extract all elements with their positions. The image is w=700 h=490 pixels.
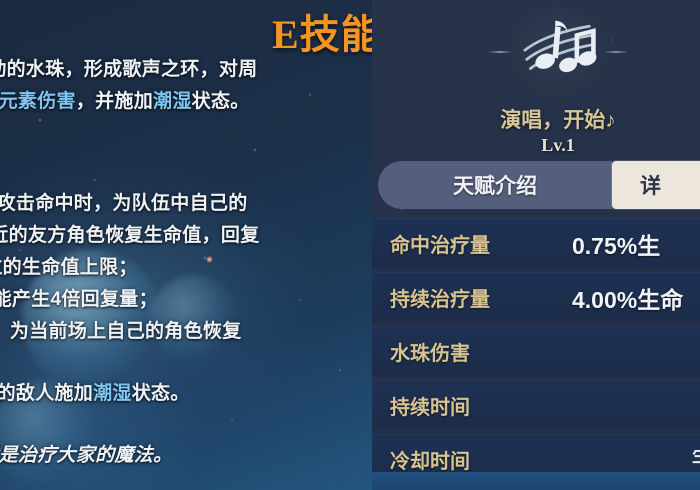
skill-icon-badge[interactable] [504, 6, 612, 98]
tab-details[interactable]: 详 [612, 161, 700, 209]
tab-bar: 天赋介绍 详 [378, 161, 700, 209]
page-title: E技能 [272, 2, 382, 60]
table-row: 水珠伤害 [372, 326, 700, 376]
skill-level: Lv.1 [541, 135, 575, 156]
panel-bottom-strip [372, 472, 700, 490]
table-row: 持续时间 [372, 380, 700, 430]
table-row: 持续治疗量 4.00%生命 [372, 272, 700, 322]
skill-detail-screen: 跃动的水珠，形成歌声之环，对周 成水元素伤害，并施加潮湿状态。 普通攻击命中时，… [0, 0, 700, 490]
stat-label: 水珠伤害 [372, 337, 470, 366]
skill-info-panel: 演唱，开始♪ Lv.1 天赋介绍 详 命中治疗量 0.75%生 持续治疗量 4.… [372, 0, 700, 490]
sparkle-decoration [206, 256, 213, 263]
skill-name: 演唱，开始♪ [500, 104, 616, 134]
stats-table: 命中治疗量 0.75%生 持续治疗量 4.00%生命 水珠伤害 持续时间 冷却时… [372, 218, 700, 488]
stat-value: 4.00%生命 [572, 281, 683, 315]
water-orb-decoration [22, 250, 162, 390]
sparkle-decoration [128, 300, 133, 305]
music-notes-icon [512, 6, 604, 98]
background-artwork [0, 0, 372, 490]
table-row: 命中治疗量 0.75%生 [372, 218, 700, 268]
stat-label: 持续治疗量 [372, 283, 490, 312]
stat-value: 0.75%生 [572, 227, 660, 261]
stat-label: 持续时间 [372, 391, 470, 420]
tab-talent-intro[interactable]: 天赋介绍 [378, 161, 612, 209]
stat-label: 命中治疗量 [372, 229, 490, 258]
skill-badge-area: 演唱，开始♪ Lv.1 [372, 6, 700, 156]
stat-label: 冷却时间 [372, 445, 470, 474]
water-orb-decoration [0, 380, 100, 490]
water-orb-decoration [150, 275, 240, 365]
